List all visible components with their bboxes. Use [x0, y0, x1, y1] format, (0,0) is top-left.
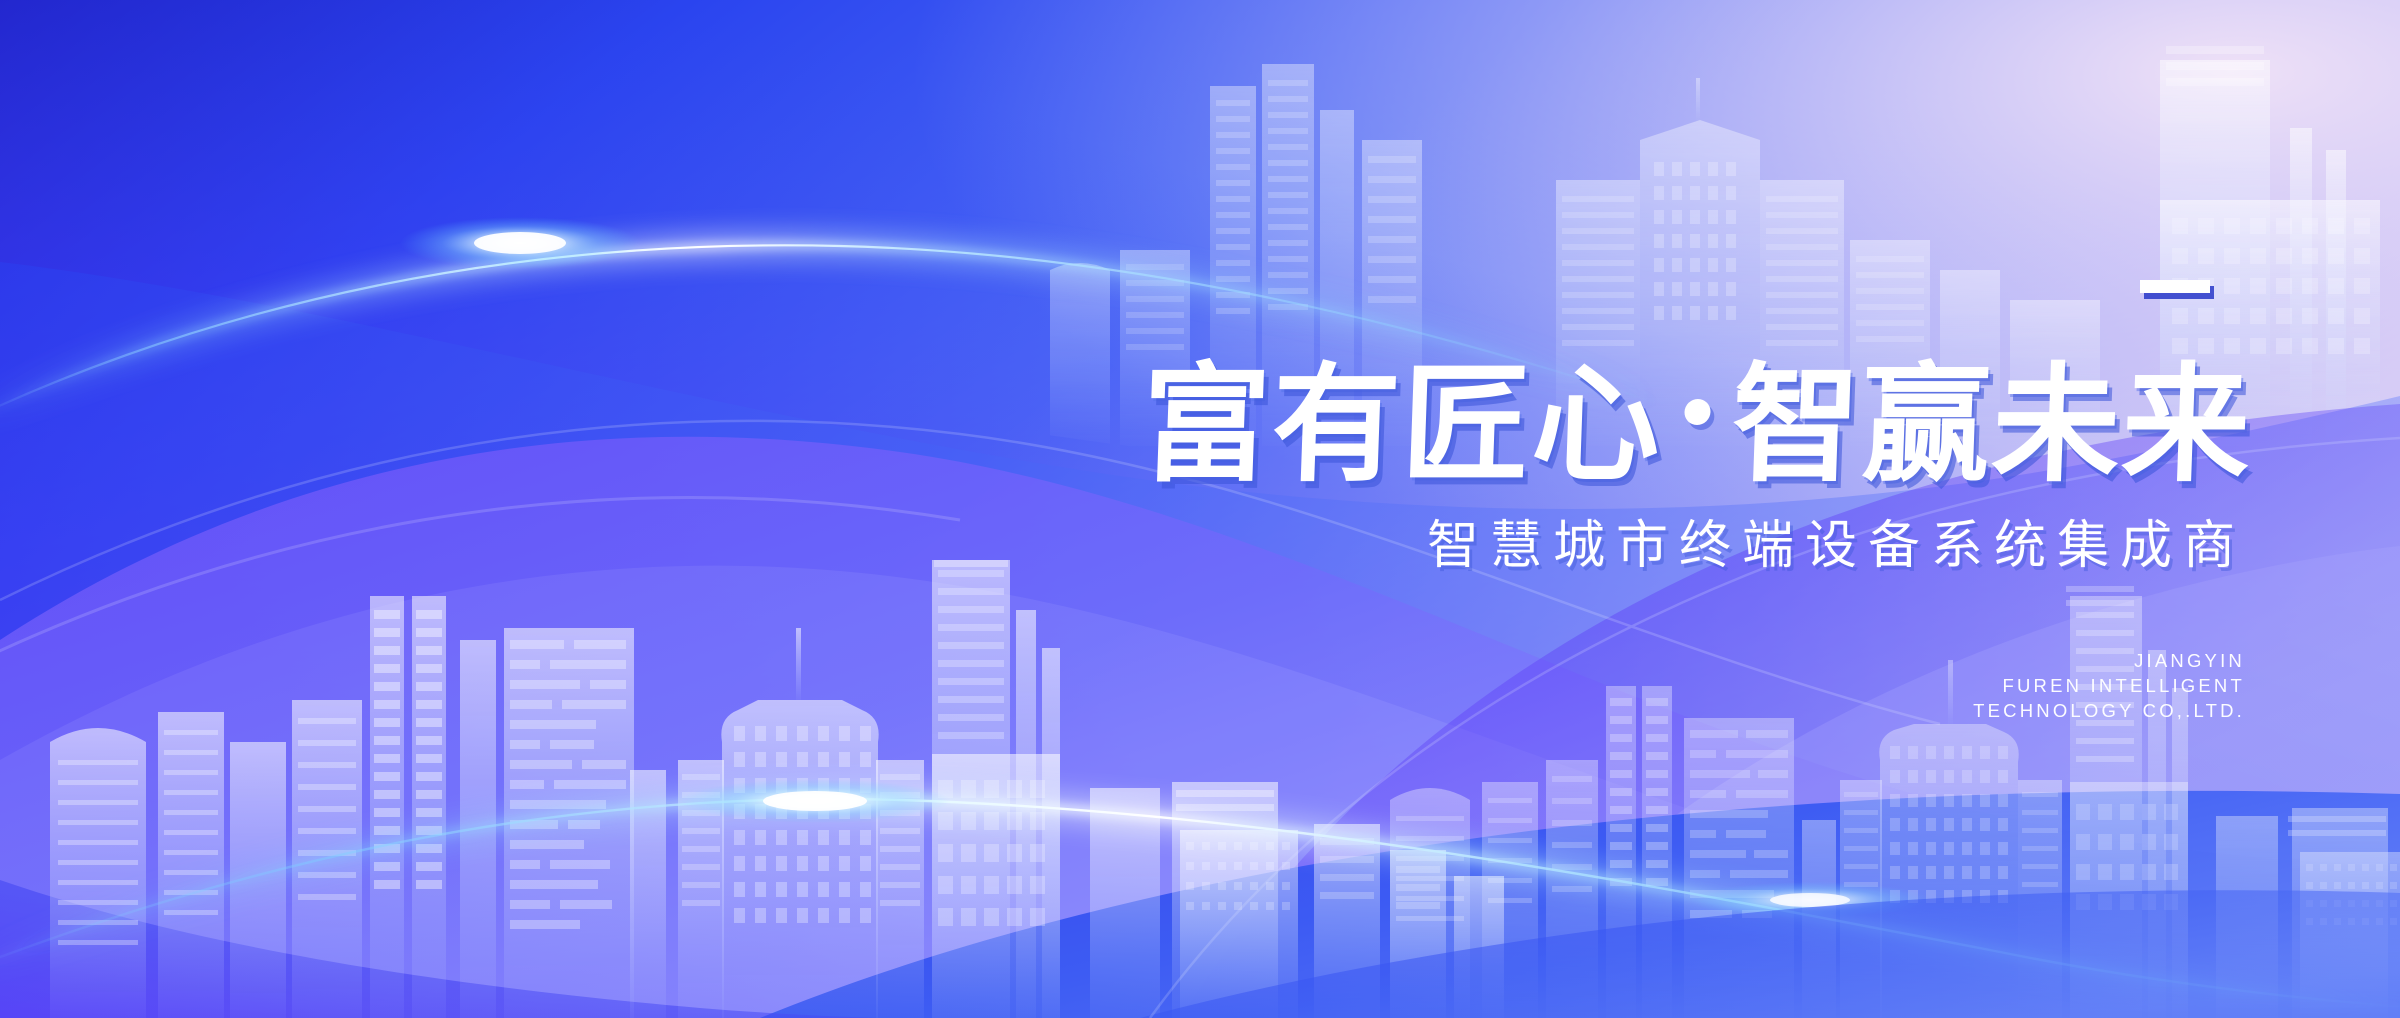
accent-dash-icon	[2140, 280, 2210, 293]
headline: 富有匠心 智赢未来	[1140, 362, 2255, 490]
background-art	[0, 0, 2400, 1018]
company-line-2: FUREN INTELLIGENT	[1973, 673, 2245, 698]
banner-canvas: 富有匠心 智赢未来 智慧城市终端设备系统集成商 JIANGYIN FUREN I…	[0, 0, 2400, 1018]
headline-left: 富有匠心	[1140, 362, 1664, 490]
company-line-3: TECHNOLOGY CO,.LTD.	[1973, 698, 2245, 723]
subtitle: 智慧城市终端设备系统集成商	[1427, 520, 2250, 572]
company-line-1: JIANGYIN	[1973, 648, 2245, 673]
company-name-en: JIANGYIN FUREN INTELLIGENT TECHNOLOGY CO…	[1973, 648, 2245, 723]
headline-separator-dot-icon	[1684, 399, 1711, 425]
headline-right: 智赢未来	[1730, 362, 2254, 490]
